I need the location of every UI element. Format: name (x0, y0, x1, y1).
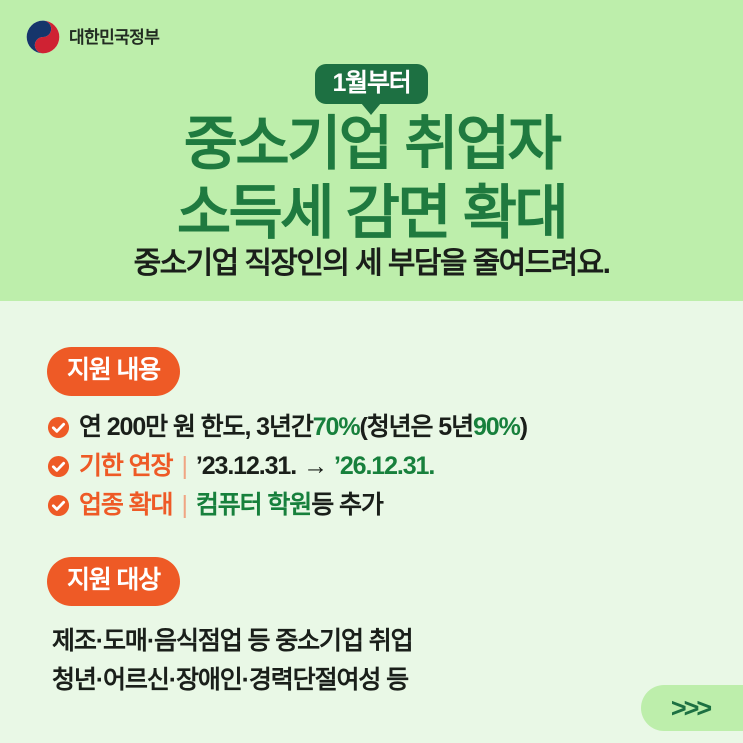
text-span-dark: ’23.12.31. (196, 454, 296, 479)
check-circle-icon (47, 494, 70, 517)
month-badge: 1월부터 (315, 64, 427, 104)
support-badge: 지원 내용 (47, 347, 180, 396)
text-span-green: 90% (473, 415, 520, 440)
support-row-text: 기한 연장|’23.12.31.→’26.12.31. (79, 454, 434, 479)
subtitle: 중소기업 직장인의 세 부담을 줄여드려요. (0, 246, 743, 282)
government-brand: 대한민국정부 (26, 20, 159, 54)
support-section: 지원 내용 연 200만 원 한도, 3년간 70%(청년은 5년 90%)기한… (47, 347, 527, 525)
title-line-1: 중소기업 취업자 (0, 110, 743, 179)
support-bullet-row: 기한 연장|’23.12.31.→’26.12.31. (47, 447, 527, 486)
title-block: 중소기업 취업자 소득세 감면 확대 (0, 110, 743, 248)
text-span-green: 70% (313, 415, 360, 440)
check-circle-icon (47, 416, 70, 439)
support-row-text: 업종 확대|컴퓨터 학원 등 추가 (79, 493, 383, 518)
taegeuk-icon (26, 20, 60, 54)
eligibility-badge: 지원 대상 (47, 557, 180, 606)
text-span-arrow: → (296, 454, 334, 479)
text-span-divider: | (172, 454, 195, 479)
eligibility-section: 지원 대상 제조·도매·음식점업 등 중소기업 취업청년·어르신·장애인·경력단… (47, 557, 413, 700)
title-line-2: 소득세 감면 확대 (0, 179, 743, 248)
support-row-text: 연 200만 원 한도, 3년간 70%(청년은 5년 90%) (79, 415, 527, 440)
text-span-dark: 연 200만 원 한도, 3년간 (79, 415, 313, 440)
text-span-orange: 업종 확대 (79, 493, 172, 518)
support-bullet-row: 연 200만 원 한도, 3년간 70%(청년은 5년 90%) (47, 408, 527, 447)
support-bullet-list: 연 200만 원 한도, 3년간 70%(청년은 5년 90%)기한 연장|’2… (47, 408, 527, 525)
eligibility-line-list: 제조·도매·음식점업 등 중소기업 취업청년·어르신·장애인·경력단절여성 등 (52, 622, 413, 700)
chevron-right-triple-icon: >>> (671, 695, 713, 722)
text-span-green: ’26.12.31. (334, 454, 434, 479)
text-span-orange: 기한 연장 (79, 454, 172, 479)
text-span-dark: ) (520, 415, 527, 440)
government-name: 대한민국정부 (69, 29, 159, 46)
text-span-dark: 등 추가 (311, 493, 383, 518)
eligibility-line: 청년·어르신·장애인·경력단절여성 등 (52, 661, 413, 700)
text-span-divider: | (172, 493, 195, 518)
infographic-card: 대한민국정부 1월부터 중소기업 취업자 소득세 감면 확대 중소기업 직장인의… (0, 0, 743, 743)
next-page-button[interactable]: >>> (641, 685, 743, 731)
month-badge-container: 1월부터 (0, 64, 743, 104)
eligibility-line: 제조·도매·음식점업 등 중소기업 취업 (52, 622, 413, 661)
text-span-green: 컴퓨터 학원 (196, 493, 311, 518)
text-span-dark: (청년은 5년 (360, 415, 473, 440)
support-bullet-row: 업종 확대|컴퓨터 학원 등 추가 (47, 486, 527, 525)
check-circle-icon (47, 455, 70, 478)
